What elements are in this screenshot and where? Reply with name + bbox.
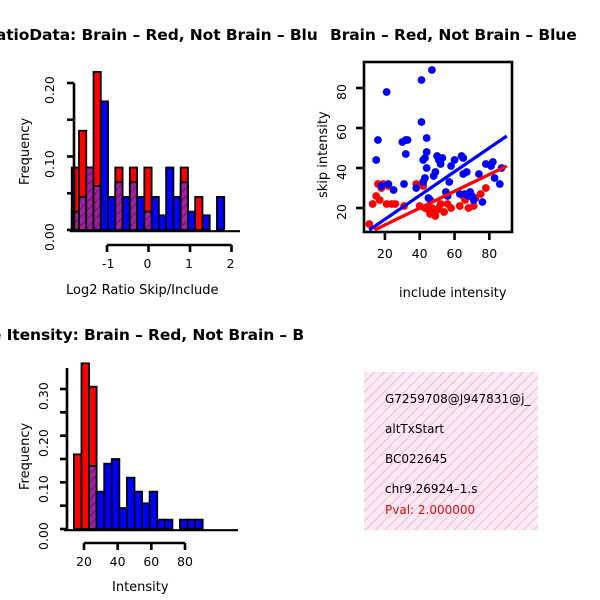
intensity-histogram-panel: ne Itensity: Brain – Red, Not Brain – B … xyxy=(0,300,300,600)
info-line-id: G7259708@J947831@j_ xyxy=(385,392,530,406)
scatter-ytick-40: 40 xyxy=(334,164,349,180)
scatter-xtick-20: 20 xyxy=(377,246,393,261)
scatter-ytick-80: 80 xyxy=(334,84,349,100)
ratio-histogram-xlabel: Log2 Ratio Skip/Include xyxy=(66,283,218,298)
ratio-ytick-0.10: 0.10 xyxy=(42,150,57,178)
ratio-histogram-panel: RatioData: Brain – Red, Not Brain – Blu … xyxy=(0,0,300,310)
ratio-xtick--1: -1 xyxy=(102,256,114,271)
scatter-ytick-20: 20 xyxy=(334,204,349,220)
intensity-histogram-xlabel: Intensity xyxy=(112,580,169,595)
info-line-locus: chr9.26924–1.s xyxy=(385,482,477,496)
info-line-accession: BC022645 xyxy=(385,452,447,466)
intensity-ytick-0.10: 0.10 xyxy=(36,475,51,503)
intensity-xtick-20: 20 xyxy=(76,554,92,569)
intensity-xtick-60: 60 xyxy=(143,554,159,569)
info-line-event-type: altTxStart xyxy=(385,422,444,436)
annotation-info-panel: G7259708@J947831@j_ altTxStart BC022645 … xyxy=(364,372,538,530)
scatter-xtick-40: 40 xyxy=(412,246,428,261)
scatter-panel: Brain – Red, Not Brain – Blue skip inten… xyxy=(300,0,600,310)
intensity-ytick-0.30: 0.30 xyxy=(36,382,51,410)
info-line-pval: Pval: 2.000000 xyxy=(385,503,475,517)
scatter-xtick-60: 60 xyxy=(447,246,463,261)
scatter-xtick-80: 80 xyxy=(481,246,497,261)
ratio-xtick-1: 1 xyxy=(185,256,193,271)
ratio-ytick-0.20: 0.20 xyxy=(42,76,57,104)
intensity-ytick-0.00: 0.00 xyxy=(36,522,51,550)
intensity-ytick-0.20: 0.20 xyxy=(36,429,51,457)
ratio-xtick-0: 0 xyxy=(144,256,152,271)
scatter-xlabel: include intensity xyxy=(399,286,507,301)
scatter-ytick-60: 60 xyxy=(334,124,349,140)
ratio-ytick-0.00: 0.00 xyxy=(42,223,57,251)
intensity-xtick-80: 80 xyxy=(177,554,193,569)
ratio-xtick-2: 2 xyxy=(227,256,235,271)
intensity-xtick-40: 40 xyxy=(110,554,126,569)
